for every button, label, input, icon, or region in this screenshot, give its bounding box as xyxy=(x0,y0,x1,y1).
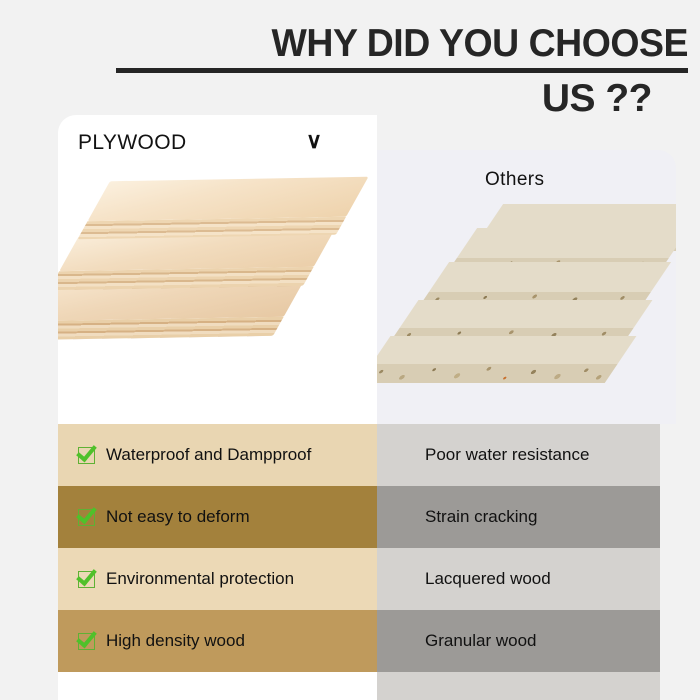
particleboard-face xyxy=(457,228,676,258)
row-label-others: Poor water resistance xyxy=(425,445,589,465)
particleboard-image xyxy=(377,196,676,424)
row-cell-others: Lacquered wood xyxy=(377,548,660,610)
particleboard-face xyxy=(377,336,636,364)
particleboard-face xyxy=(429,262,671,292)
row-label-others: Strain cracking xyxy=(425,507,537,527)
particleboard-sheet-2 xyxy=(457,228,676,258)
plywood-image xyxy=(58,139,377,424)
row-label-plywood: High density wood xyxy=(106,631,245,651)
table-row: Not easy to deform Strain cracking xyxy=(0,486,700,548)
check-icon xyxy=(78,571,95,588)
table-row: Waterproof and Dampproof Poor water resi… xyxy=(0,424,700,486)
row-label-plywood: Waterproof and Dampproof xyxy=(106,445,311,465)
row-cell-others: Granular wood xyxy=(377,610,660,672)
particleboard-sheet-5 xyxy=(377,336,636,364)
board-footer-left xyxy=(58,672,377,700)
board-footer-right xyxy=(377,672,660,700)
others-label: Others xyxy=(485,169,544,191)
row-cell-plywood: High density wood xyxy=(58,610,377,672)
others-panel xyxy=(377,150,676,424)
check-icon xyxy=(78,633,95,650)
row-label-plywood: Not easy to deform xyxy=(106,507,250,527)
comparison-rows: Waterproof and Dampproof Poor water resi… xyxy=(0,424,700,672)
row-cell-plywood: Environmental protection xyxy=(58,548,377,610)
check-icon xyxy=(78,447,95,464)
plywood-sheet-face xyxy=(88,177,369,221)
plywood-sheet-top xyxy=(88,177,369,221)
table-row: Environmental protection Lacquered wood xyxy=(0,548,700,610)
particleboard-sheet-3 xyxy=(429,262,671,292)
page-title: WHY DID YOU CHOOSE US ?? xyxy=(0,22,700,121)
row-cell-plywood: Not easy to deform xyxy=(58,486,377,548)
particleboard-edge xyxy=(377,364,618,383)
particleboard-face xyxy=(400,300,653,328)
headline-underline xyxy=(116,68,688,73)
plywood-label: PLYWOOD xyxy=(78,131,187,155)
row-cell-others: Poor water resistance xyxy=(377,424,660,486)
particleboard-sheet-4 xyxy=(400,300,653,328)
row-cell-others: Strain cracking xyxy=(377,486,660,548)
plywood-panel xyxy=(58,115,377,424)
plywood-sheet-edge xyxy=(58,317,284,340)
comparison-board: PLYWOOD ∨ Other xyxy=(0,115,700,700)
headline-line-1: WHY DID YOU CHOOSE xyxy=(39,22,688,66)
row-label-others: Lacquered wood xyxy=(425,569,551,589)
board-footer xyxy=(0,672,700,700)
check-icon xyxy=(78,509,95,526)
table-row: High density wood Granular wood xyxy=(0,610,700,672)
row-cell-plywood: Waterproof and Dampproof xyxy=(58,424,377,486)
row-label-others: Granular wood xyxy=(425,631,537,651)
row-label-plywood: Environmental protection xyxy=(106,569,294,589)
chevron-down-icon[interactable]: ∨ xyxy=(306,130,322,152)
